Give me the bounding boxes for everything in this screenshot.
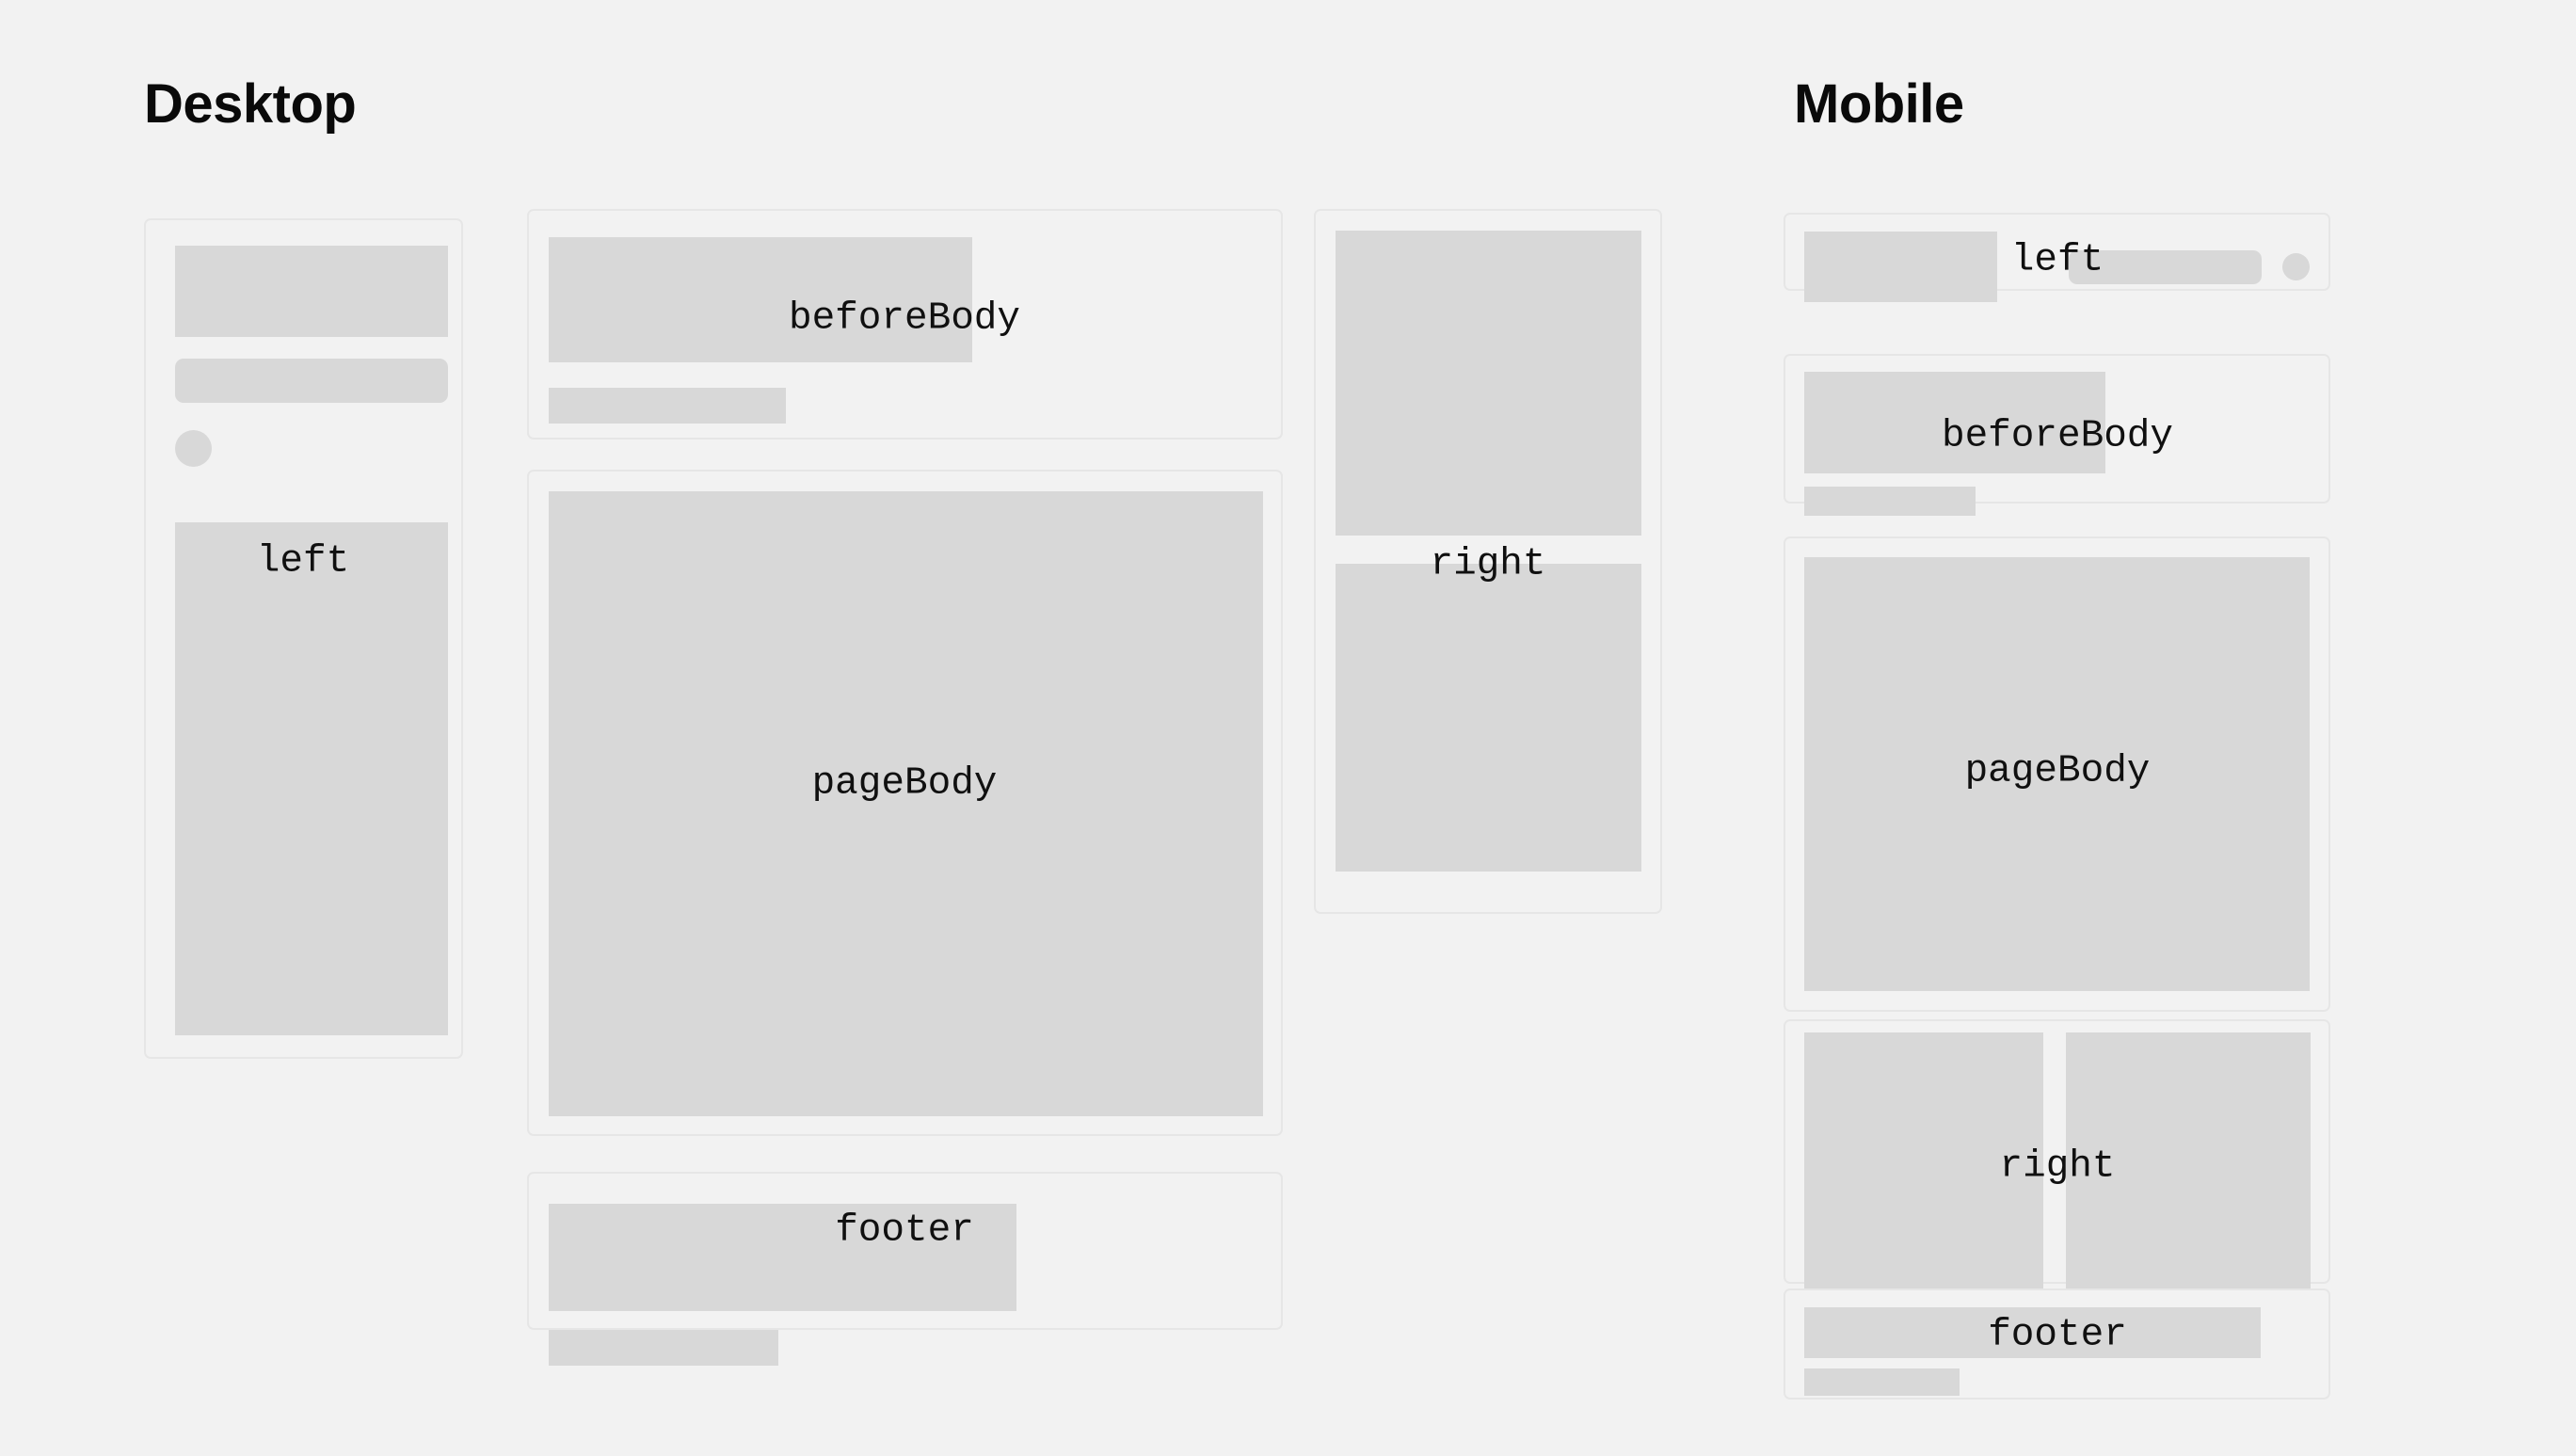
- skeleton-block-footer-note: [1804, 1368, 1960, 1396]
- mobile-before-body-panel[interactable]: [1784, 354, 2330, 504]
- section-title-desktop: Desktop: [144, 77, 356, 132]
- skeleton-block-right-top: [1336, 231, 1641, 536]
- skeleton-block-caption: [549, 388, 786, 424]
- skeleton-block-body: [175, 522, 448, 1035]
- skeleton-block-right-bottom: [1336, 564, 1641, 872]
- skeleton-block-caption: [1804, 487, 1976, 516]
- mobile-right-panel[interactable]: [1784, 1019, 2330, 1284]
- skeleton-block-footer-main: [549, 1204, 1016, 1311]
- skeleton-block-right-col-2: [2066, 1032, 2311, 1290]
- desktop-footer-panel[interactable]: [527, 1172, 1283, 1330]
- mobile-page-body-panel[interactable]: [1784, 536, 2330, 1012]
- skeleton-block-pill: [175, 359, 448, 403]
- skeleton-block-avatar: [2282, 253, 2310, 280]
- desktop-before-body-panel[interactable]: [527, 209, 1283, 440]
- desktop-right-rail-panel[interactable]: [1314, 209, 1662, 914]
- skeleton-block-right-col-1: [1804, 1032, 2043, 1290]
- skeleton-block-footer-main: [1804, 1307, 2261, 1358]
- section-title-mobile: Mobile: [1794, 77, 1964, 132]
- skeleton-block-footer-note: [549, 1330, 778, 1366]
- desktop-left-sidebar-panel[interactable]: [144, 218, 463, 1059]
- skeleton-block-pill: [2069, 250, 2262, 284]
- skeleton-block-header: [175, 246, 448, 337]
- mobile-left-panel[interactable]: [1784, 213, 2330, 291]
- mobile-footer-panel[interactable]: [1784, 1288, 2330, 1400]
- skeleton-block-content: [549, 491, 1263, 1116]
- skeleton-block-hero: [549, 237, 972, 362]
- skeleton-block-header: [1804, 232, 1997, 302]
- skeleton-block-avatar: [175, 430, 212, 467]
- skeleton-block-content: [1804, 557, 2310, 991]
- desktop-page-body-panel[interactable]: [527, 470, 1283, 1136]
- skeleton-block-hero: [1804, 372, 2105, 473]
- wireframe-canvas: Desktop left beforeBody pageBody footer …: [0, 0, 2576, 1456]
